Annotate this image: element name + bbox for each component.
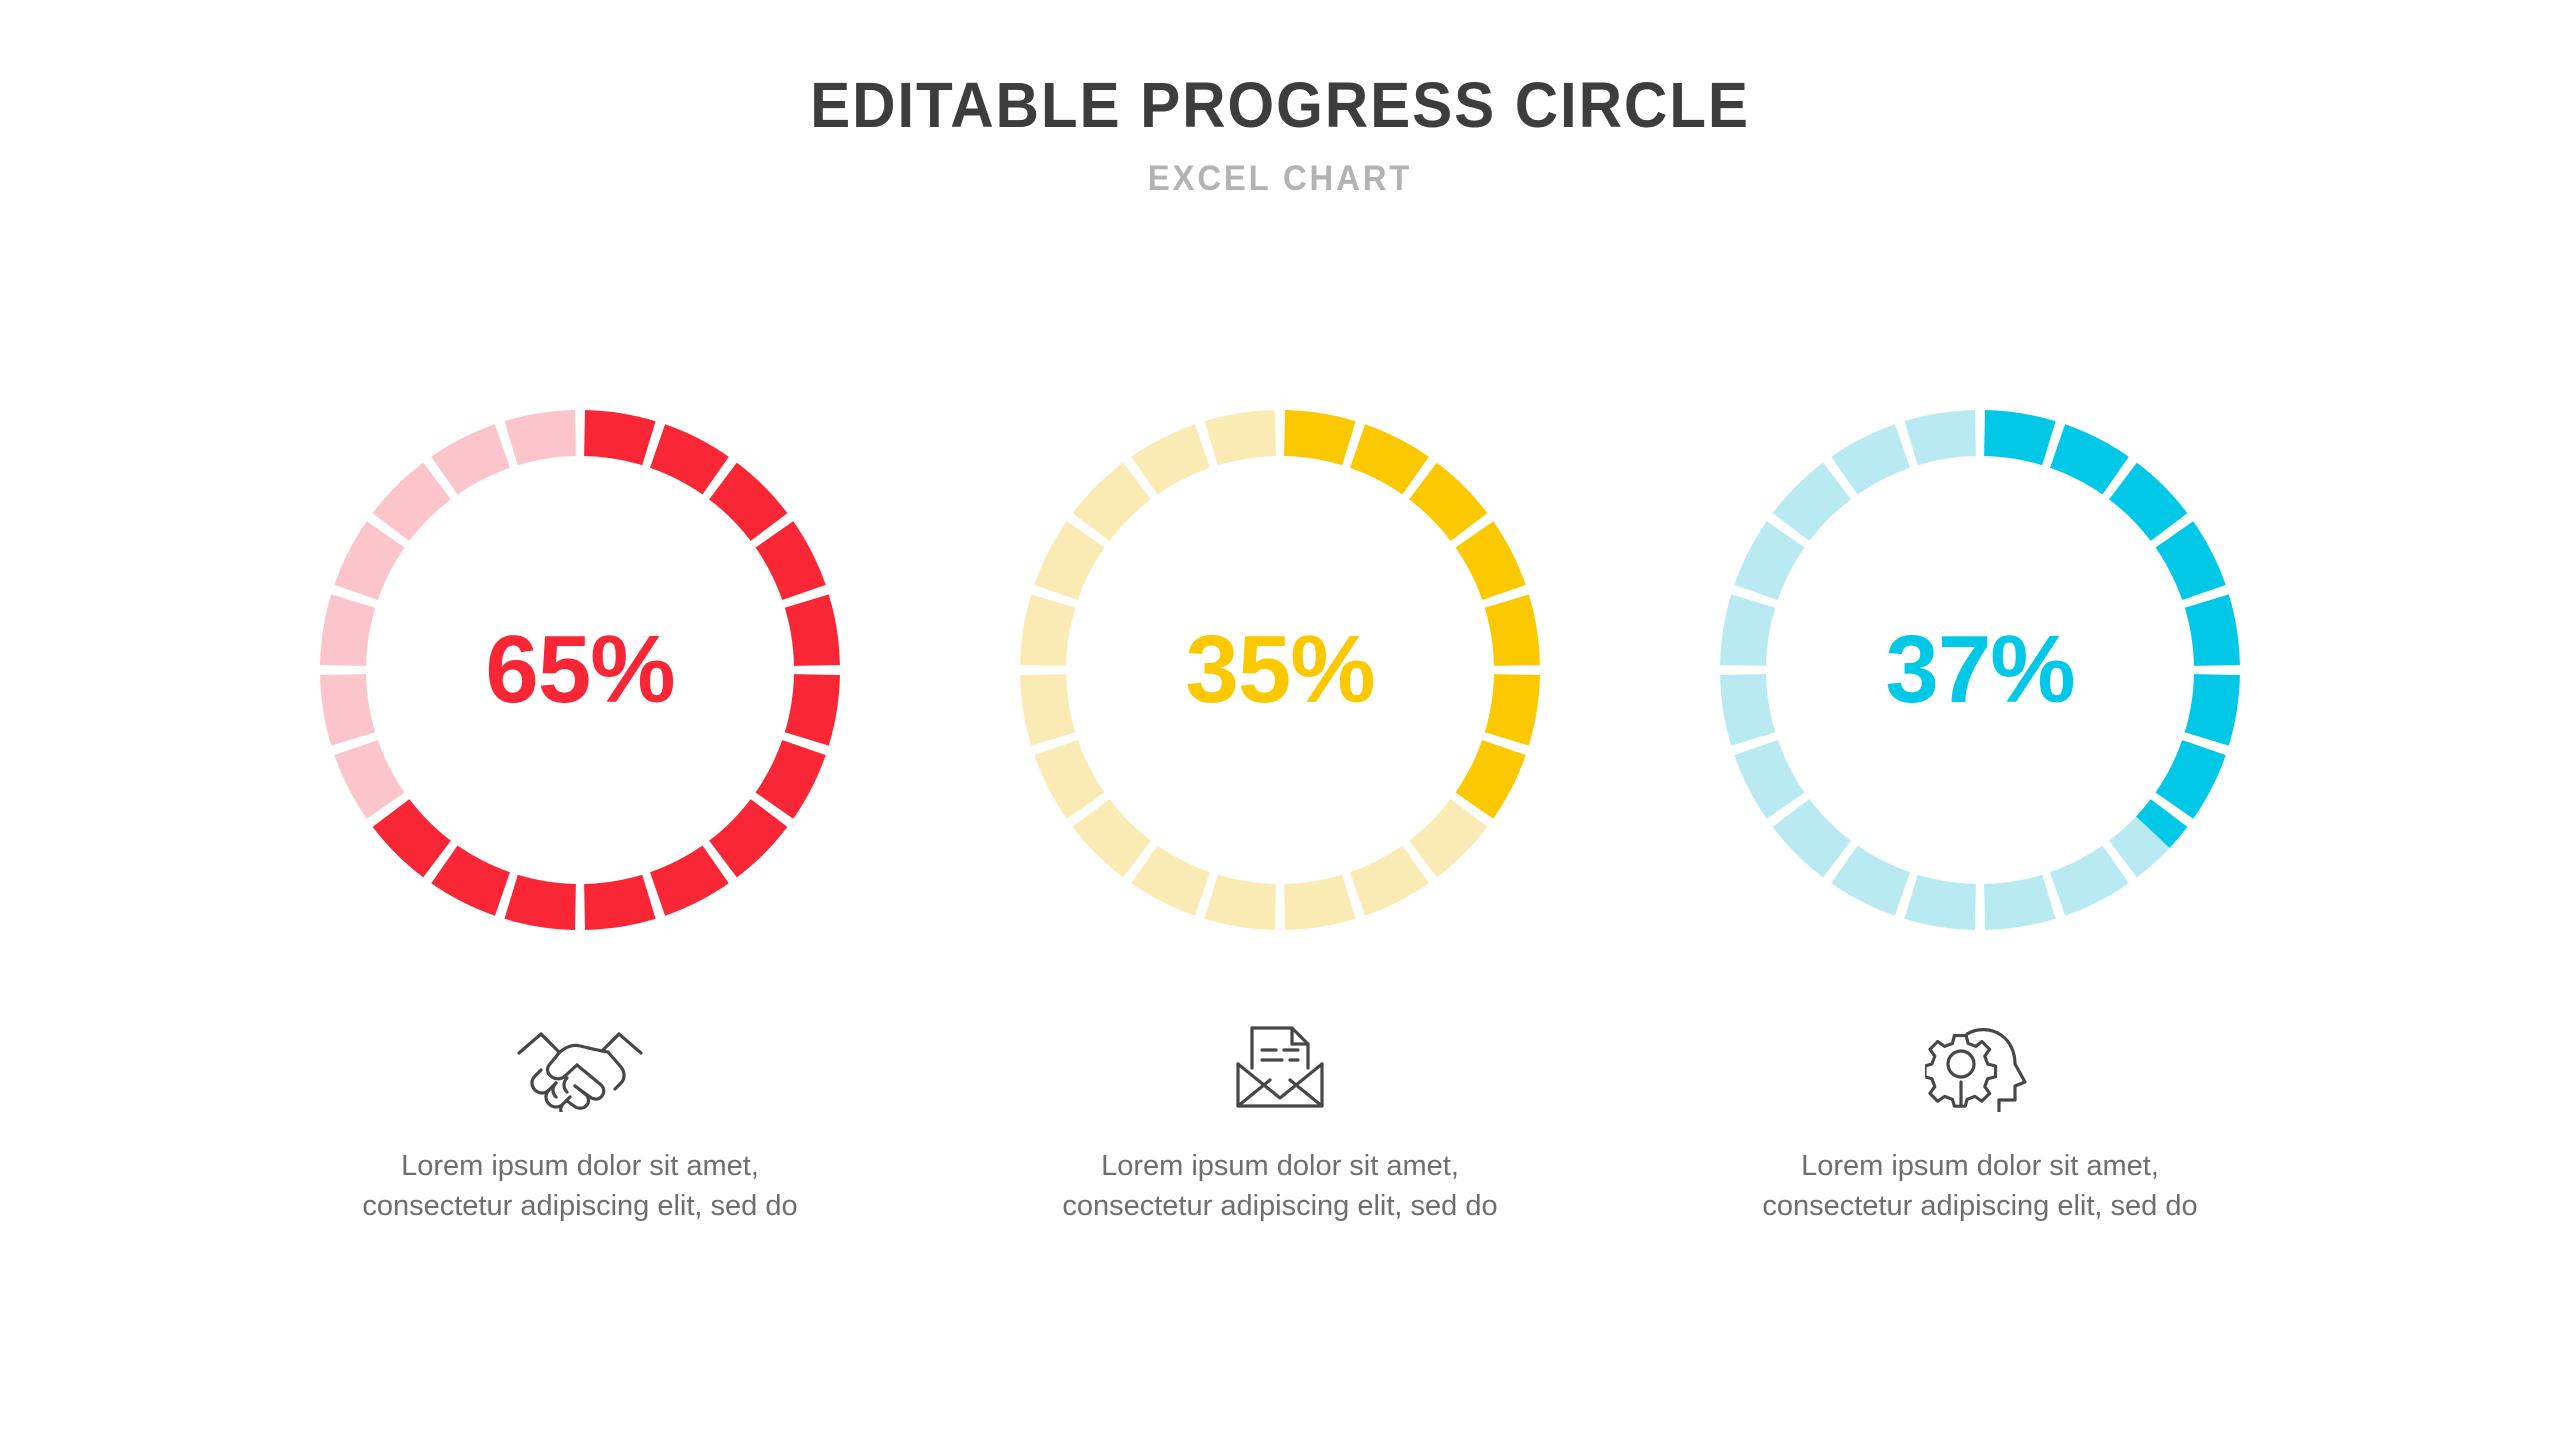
progress-donut-2[interactable]: 35% xyxy=(1010,400,1550,940)
progress-donut-3[interactable]: 37% xyxy=(1710,400,2250,940)
column-caption-3: Lorem ipsum dolor sit amet, consectetur … xyxy=(1740,1146,2220,1226)
column-caption-2: Lorem ipsum dolor sit amet, consectetur … xyxy=(1040,1146,1520,1226)
progress-donut-1[interactable]: 65% xyxy=(310,400,850,940)
mail-document-icon xyxy=(1230,1020,1330,1112)
handshake-icon xyxy=(505,1020,655,1112)
progress-columns: 65% xyxy=(0,400,2560,1226)
page-title: EDITABLE PROGRESS CIRCLE xyxy=(77,72,2483,139)
progress-column-1: 65% xyxy=(230,400,930,1226)
progress-value-2: 35% xyxy=(1010,400,1550,940)
progress-column-2: 35% Lorem ipsum dolor sit amet, consecte… xyxy=(930,400,1630,1226)
head-gear-icon xyxy=(1925,1020,2035,1112)
progress-value-3: 37% xyxy=(1710,400,2250,940)
column-caption-1: Lorem ipsum dolor sit amet, consectetur … xyxy=(340,1146,820,1226)
infographic-page: EDITABLE PROGRESS CIRCLE EXCEL CHART 65% xyxy=(0,0,2560,1440)
header: EDITABLE PROGRESS CIRCLE EXCEL CHART xyxy=(0,72,2560,199)
progress-column-3: 37% Lorem ipsum dolor sit amet, consecte… xyxy=(1630,400,2330,1226)
progress-value-1: 65% xyxy=(310,400,850,940)
page-subtitle: EXCEL CHART xyxy=(77,159,2483,199)
